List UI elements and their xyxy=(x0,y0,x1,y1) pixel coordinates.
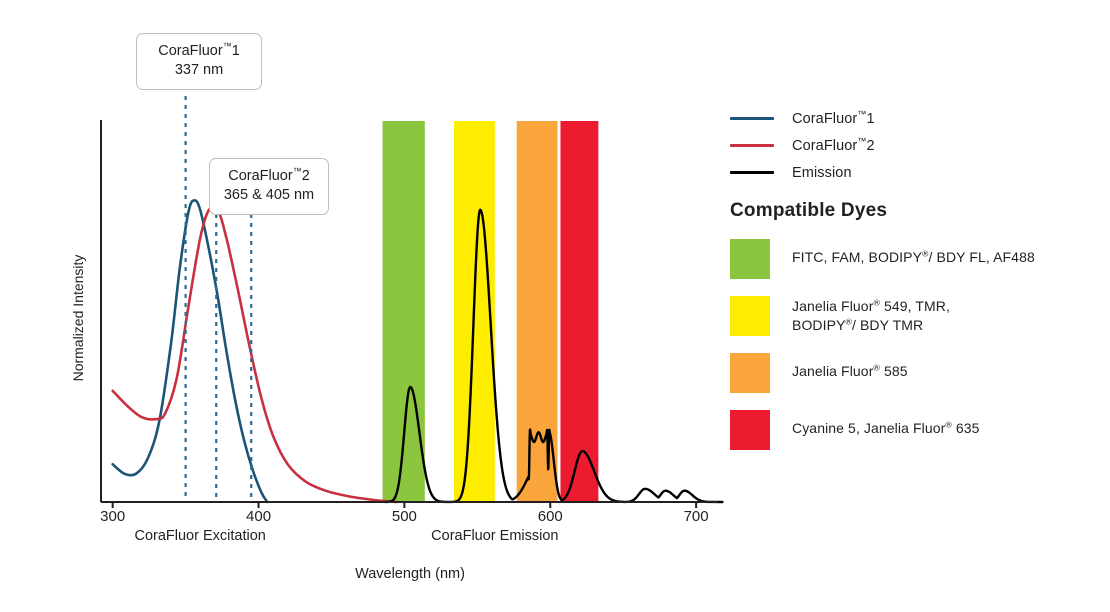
x-tick-label-700: 700 xyxy=(666,508,726,525)
legend-line-swatch-1 xyxy=(730,144,774,147)
x-tick-label-500: 500 xyxy=(374,508,434,525)
legend-line-label-1: CoraFluor™2 xyxy=(792,138,875,154)
annotation-corafluor1-title: CoraFluor™1 xyxy=(149,42,249,61)
dye-label-0: FITC, FAM, BODIPY®/ BDY FL, AF488 xyxy=(792,239,1035,267)
dye-item-3: Cyanine 5, Janelia Fluor® 635 xyxy=(730,410,1090,450)
curve-corafluor1 xyxy=(113,200,268,502)
x-tick-label-600: 600 xyxy=(520,508,580,525)
dye-item-1: Janelia Fluor® 549, TMR,BODIPY®/ BDY TMR xyxy=(730,296,1090,336)
axis-group-label-emission: CoraFluor Emission xyxy=(375,528,615,544)
legend-panel: CoraFluor™1CoraFluor™2Emission Compatibl… xyxy=(730,105,1090,450)
legend-series-list: CoraFluor™1CoraFluor™2Emission xyxy=(730,105,1090,186)
legend-item-2: Emission xyxy=(730,159,1090,186)
legend-line-label-2: Emission xyxy=(792,165,852,181)
compatible-dyes-title: Compatible Dyes xyxy=(730,200,1090,222)
dye-label-2: Janelia Fluor® 585 xyxy=(792,353,908,381)
legend-line-label-0: CoraFluor™1 xyxy=(792,111,875,127)
dye-label-1: Janelia Fluor® 549, TMR,BODIPY®/ BDY TMR xyxy=(792,296,950,335)
annotation-corafluor1: CoraFluor™1 337 nm xyxy=(136,33,262,90)
legend-line-swatch-0 xyxy=(730,117,774,120)
annotation-corafluor2-title: CoraFluor™2 xyxy=(222,167,316,186)
compatible-dyes-list: FITC, FAM, BODIPY®/ BDY FL, AF488Janelia… xyxy=(730,239,1090,450)
curve-corafluor2 xyxy=(113,206,397,502)
legend-item-0: CoraFluor™1 xyxy=(730,105,1090,132)
dye-swatch-1 xyxy=(730,296,770,336)
dye-item-0: FITC, FAM, BODIPY®/ BDY FL, AF488 xyxy=(730,239,1090,279)
legend-item-1: CoraFluor™2 xyxy=(730,132,1090,159)
dye-label-3: Cyanine 5, Janelia Fluor® 635 xyxy=(792,410,980,438)
dye-swatch-3 xyxy=(730,410,770,450)
dye-item-2: Janelia Fluor® 585 xyxy=(730,353,1090,393)
dye-swatch-2 xyxy=(730,353,770,393)
axis-group-label-excitation: CoraFluor Excitation xyxy=(80,528,320,544)
annotation-corafluor2: CoraFluor™2 365 & 405 nm xyxy=(209,158,329,215)
dye-swatch-0 xyxy=(730,239,770,279)
x-axis-title: Wavelength (nm) xyxy=(300,566,520,582)
annotation-corafluor2-value: 365 & 405 nm xyxy=(222,186,316,205)
x-tick-label-300: 300 xyxy=(83,508,143,525)
x-tick-label-400: 400 xyxy=(229,508,289,525)
emission-band-3 xyxy=(560,121,598,502)
legend-line-swatch-2 xyxy=(730,171,774,174)
y-axis-title: Normalized Intensity xyxy=(70,218,86,418)
annotation-corafluor1-value: 337 nm xyxy=(149,61,249,80)
